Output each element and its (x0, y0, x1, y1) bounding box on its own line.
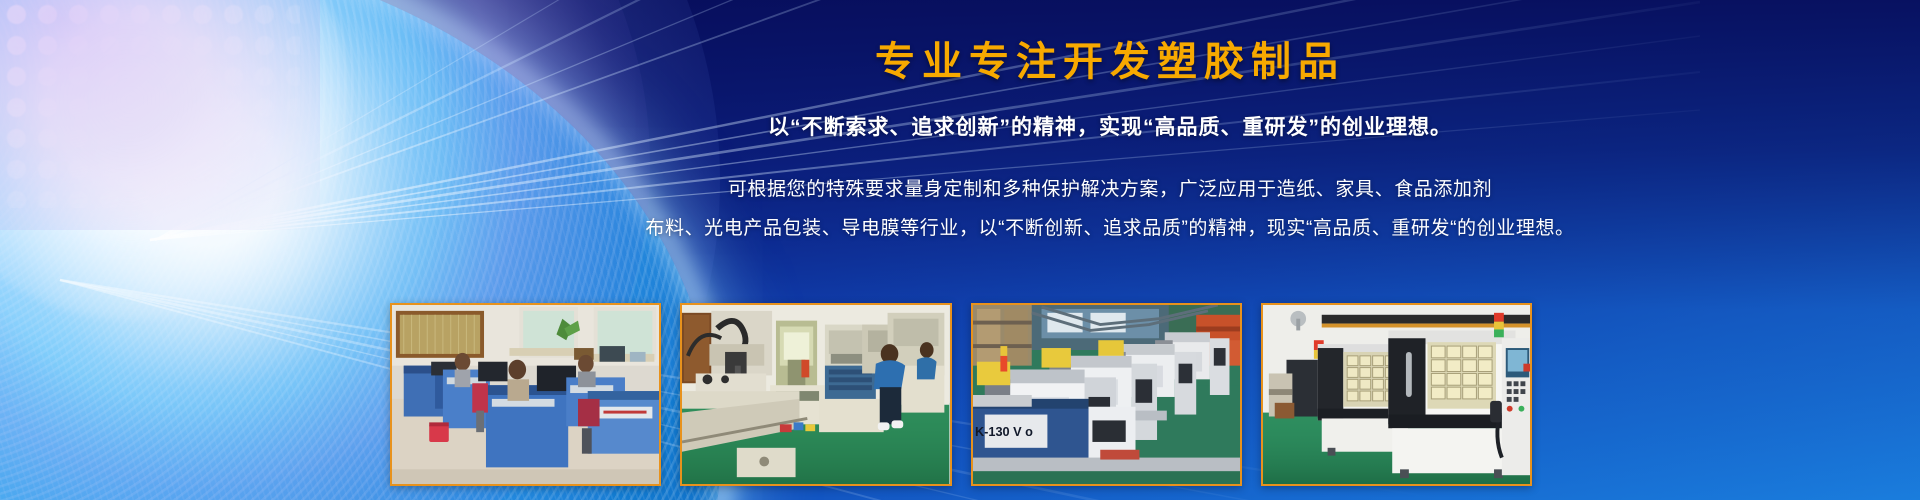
banner-description-line-1: 可根据您的特殊要求量身定制和多种保护解决方案，广泛应用于造纸、家具、食品添加剂 (300, 171, 1920, 210)
photo-edm-machining-workshop[interactable] (680, 303, 951, 486)
office-workstations-image (392, 305, 659, 484)
page-title: 专业专注开发塑胶制品 (300, 38, 1920, 86)
photo-office-workstations[interactable] (390, 303, 661, 486)
injection-molding-line-image: K-130 V o (973, 305, 1240, 484)
photo-cnc-machining-centers[interactable] (1261, 303, 1532, 486)
factory-photo-strip: K-130 V o (390, 303, 1532, 486)
banner-text-block: 专业专注开发塑胶制品 以“不断索求、追求创新”的精神，实现“高品质、重研发”的创… (300, 0, 1920, 300)
banner-subtitle: 以“不断索求、追求创新”的精神，实现“高品质、重研发”的创业理想。 (300, 111, 1920, 141)
edm-machining-workshop-image (682, 305, 949, 484)
halftone-dots-icon (0, 0, 300, 208)
machine-model-label: K-130 V o (974, 424, 1032, 439)
photo-injection-molding-line[interactable]: K-130 V o (971, 303, 1242, 486)
cnc-machining-centers-image (1263, 305, 1530, 484)
promo-banner: 专业专注开发塑胶制品 以“不断索求、追求创新”的精神，实现“高品质、重研发”的创… (0, 0, 1920, 500)
banner-description-line-2: 布料、光电产品包装、导电膜等行业，以“不断创新、追求品质”的精神，现实“高品质、… (300, 210, 1920, 249)
